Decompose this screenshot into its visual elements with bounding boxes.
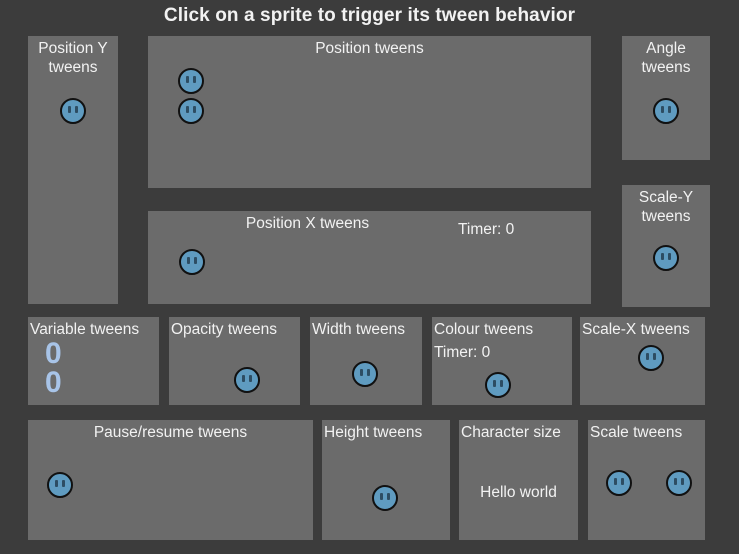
sprite-eye-left-icon	[55, 480, 58, 487]
sprite-eye-left-icon	[661, 253, 664, 260]
panel-label-colour-tweens: Colour tweens	[434, 320, 533, 339]
sprite-eye-right-icon	[681, 478, 684, 485]
panel-variable-tweens: Variable tweens00	[28, 317, 159, 405]
panel-angle-tweens: Angle tweens	[622, 36, 710, 160]
sprite[interactable]	[653, 98, 679, 124]
sprite-eye-left-icon	[360, 369, 363, 376]
sprite[interactable]	[60, 98, 86, 124]
panel-label-angle-tweens: Angle tweens	[622, 39, 710, 77]
sprite[interactable]	[666, 470, 692, 496]
panel-label-width-tweens: Width tweens	[312, 320, 405, 339]
sprite-eye-left-icon	[674, 478, 677, 485]
sprite[interactable]	[638, 345, 664, 371]
sprite-eye-left-icon	[661, 106, 664, 113]
panel-scale-x-tweens: Scale-X tweens	[580, 317, 705, 405]
variable-value: 0	[45, 339, 62, 369]
sprite-eye-right-icon	[249, 375, 252, 382]
sprite-eye-right-icon	[500, 380, 503, 387]
panel-label-height-tweens: Height tweens	[324, 423, 422, 442]
sprite-eye-left-icon	[242, 375, 245, 382]
sprite-eye-left-icon	[614, 478, 617, 485]
sprite[interactable]	[179, 249, 205, 275]
sprite-eye-right-icon	[653, 353, 656, 360]
sprite-eye-left-icon	[493, 380, 496, 387]
panel-body-text-character-size: Hello world	[459, 484, 578, 502]
panel-scale-y-tweens: Scale-Y tweens	[622, 185, 710, 307]
sprite-eye-right-icon	[668, 106, 671, 113]
sprite-eye-right-icon	[668, 253, 671, 260]
panel-width-tweens: Width tweens	[310, 317, 422, 405]
panel-timer-position-x-tweens: Timer: 0	[458, 220, 514, 239]
panel-label-position-y-tweens: Position Y tweens	[28, 39, 118, 77]
sprite-eye-left-icon	[186, 106, 189, 113]
panel-scale-tweens: Scale tweens	[588, 420, 705, 540]
sprite[interactable]	[352, 361, 378, 387]
sprite-eye-left-icon	[187, 257, 190, 264]
sprite[interactable]	[653, 245, 679, 271]
sprite[interactable]	[47, 472, 73, 498]
sprite-eye-left-icon	[646, 353, 649, 360]
panel-label-opacity-tweens: Opacity tweens	[171, 320, 277, 339]
panel-label-character-size: Character size	[461, 423, 561, 442]
sprite-eye-right-icon	[193, 106, 196, 113]
sprite-eye-left-icon	[380, 493, 383, 500]
tween-demo-canvas: Click on a sprite to trigger its tween b…	[0, 0, 739, 554]
sprite-eye-left-icon	[186, 76, 189, 83]
panel-label-scale-x-tweens: Scale-X tweens	[582, 320, 690, 339]
panel-pause-resume-tweens: Pause/resume tweens	[28, 420, 313, 540]
panel-label-position-tweens: Position tweens	[148, 39, 591, 58]
panel-position-tweens: Position tweens	[148, 36, 591, 188]
sprite-eye-right-icon	[75, 106, 78, 113]
panel-colour-tweens: Colour tweensTimer: 0	[432, 317, 572, 405]
panel-character-size: Character sizeHello world	[459, 420, 578, 540]
sprite-eye-right-icon	[387, 493, 390, 500]
panel-position-y-tweens: Position Y tweens	[28, 36, 118, 304]
sprite[interactable]	[485, 372, 511, 398]
sprite-eye-right-icon	[62, 480, 65, 487]
panel-opacity-tweens: Opacity tweens	[169, 317, 300, 405]
sprite[interactable]	[234, 367, 260, 393]
page-title: Click on a sprite to trigger its tween b…	[0, 5, 739, 27]
sprite[interactable]	[606, 470, 632, 496]
panel-label-pause-resume-tweens: Pause/resume tweens	[28, 423, 313, 442]
sprite-eye-right-icon	[367, 369, 370, 376]
sprite-eye-left-icon	[68, 106, 71, 113]
variable-value: 0	[45, 368, 62, 398]
panel-timer-colour-tweens: Timer: 0	[434, 343, 490, 362]
panel-position-x-tweens: Position X tweensTimer: 0	[148, 211, 591, 304]
sprite-eye-right-icon	[193, 76, 196, 83]
sprite[interactable]	[372, 485, 398, 511]
panel-label-scale-tweens: Scale tweens	[590, 423, 682, 442]
panel-height-tweens: Height tweens	[322, 420, 450, 540]
sprite-eye-right-icon	[621, 478, 624, 485]
sprite[interactable]	[178, 68, 204, 94]
panel-label-scale-y-tweens: Scale-Y tweens	[622, 188, 710, 226]
sprite-eye-right-icon	[194, 257, 197, 264]
sprite[interactable]	[178, 98, 204, 124]
